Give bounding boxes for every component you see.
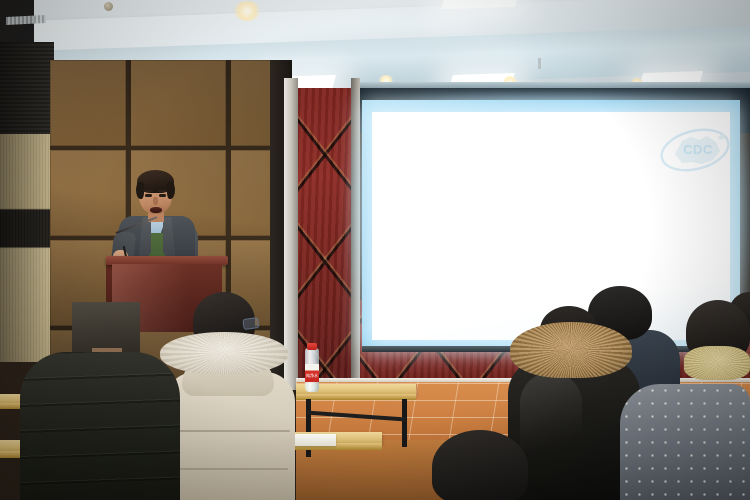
bottle-cap bbox=[307, 343, 317, 350]
speaker-eye bbox=[145, 194, 152, 197]
white-fur-hood-trim bbox=[160, 332, 288, 374]
polkadot-pattern bbox=[620, 384, 750, 500]
speaker-eye bbox=[159, 194, 166, 197]
speaker-eyebrow bbox=[158, 190, 167, 192]
paper-sheet bbox=[288, 434, 336, 446]
door-frame-left bbox=[284, 78, 298, 390]
coat-seam bbox=[172, 430, 290, 432]
glasses-icon bbox=[242, 317, 259, 330]
table-leg bbox=[402, 399, 407, 447]
fur-hood-trim bbox=[510, 322, 632, 378]
jacket-highlight bbox=[520, 372, 582, 482]
speaker-nose bbox=[153, 197, 158, 205]
bottle-label-text: 纯净水 bbox=[305, 373, 319, 378]
coat-seam bbox=[176, 468, 288, 470]
table-edge bbox=[296, 394, 416, 400]
attendee-foreground-head-hair bbox=[432, 430, 528, 500]
ceiling-hanger bbox=[538, 58, 541, 69]
speaker-mouth bbox=[150, 207, 162, 213]
fur-collar-trim bbox=[684, 346, 750, 380]
speaker-hair-side bbox=[136, 182, 144, 199]
sprinkler-icon bbox=[104, 2, 113, 11]
downlight-icon bbox=[232, 1, 262, 21]
left-wall-shadow bbox=[0, 42, 54, 362]
red-lattice-wall-doorway bbox=[298, 88, 352, 386]
cdc-logo-text: CDC bbox=[675, 142, 721, 157]
lecture-room-photo: CDC 纯净水 bbox=[0, 0, 750, 500]
speaker-eyebrow bbox=[144, 190, 153, 192]
quilting-pattern bbox=[20, 352, 180, 500]
